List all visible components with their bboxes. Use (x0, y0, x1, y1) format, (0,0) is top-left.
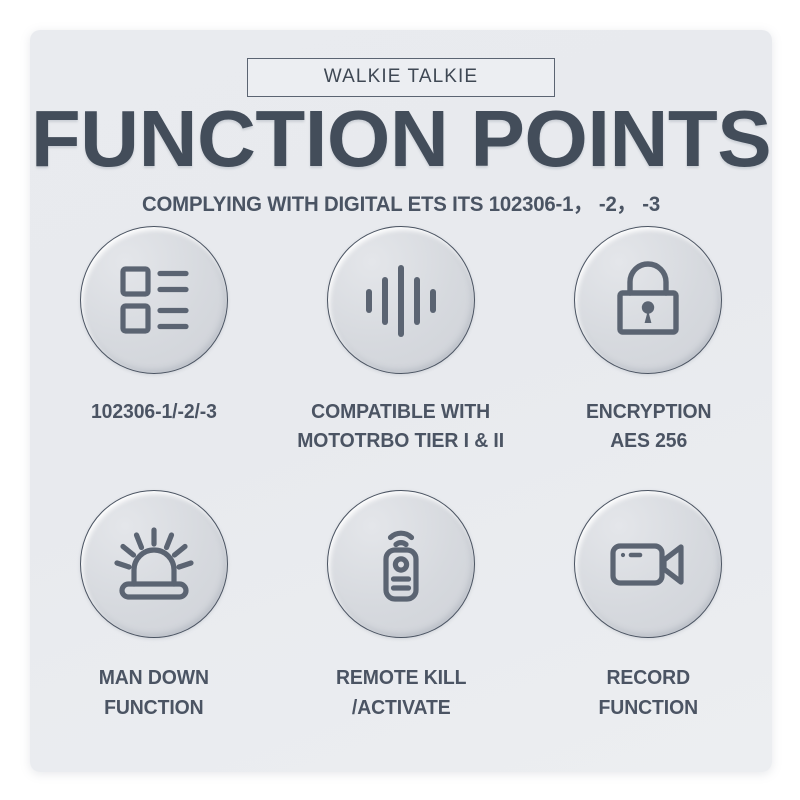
feature-label: ENCRYPTION AES 256 (586, 398, 712, 456)
siren-beacon-icon (112, 522, 196, 606)
page-title: FUNCTION POINTS (30, 99, 772, 179)
feature-grid: 102306-1/-2/-3 COMPATIBLE WITH MOTOTRBO … (30, 226, 772, 723)
eyebrow-badge: WALKIE TALKIE (247, 58, 555, 97)
eyebrow-label: WALKIE TALKIE (324, 66, 478, 87)
icon-circle (574, 490, 722, 638)
feature-label: REMOTE KILL /ACTIVATE (336, 664, 466, 722)
poster-card: WALKIE TALKIE FUNCTION POINTS COMPLYING … (30, 30, 772, 772)
page-subtitle: COMPLYING WITH DIGITAL ETS ITS 102306-1，… (41, 188, 761, 218)
feature-item-remote-kill: REMOTE KILL /ACTIVATE (277, 490, 524, 722)
feature-item-compatibility: COMPATIBLE WITH MOTOTRBO TIER I & II (277, 226, 524, 456)
feature-label: 102306-1/-2/-3 (91, 398, 217, 427)
feature-label: COMPATIBLE WITH MOTOTRBO TIER I & II (298, 398, 505, 456)
icon-circle (80, 226, 228, 374)
feature-label: MAN DOWN FUNCTION (99, 664, 209, 722)
icon-circle (80, 490, 228, 638)
feature-label: RECORD FUNCTION (599, 664, 698, 722)
audio-waveform-icon (359, 258, 443, 342)
list-grid-icon (112, 258, 196, 342)
icon-circle (574, 226, 722, 374)
icon-circle (327, 490, 475, 638)
feature-item-record: RECORD FUNCTION (525, 490, 772, 722)
feature-item-encryption: ENCRYPTION AES 256 (525, 226, 772, 456)
eyebrow-wrap: WALKIE TALKIE (30, 58, 772, 97)
icon-circle (327, 226, 475, 374)
video-camera-icon (606, 522, 690, 606)
padlock-icon (606, 258, 690, 342)
remote-control-icon (359, 522, 443, 606)
feature-item-standards: 102306-1/-2/-3 (30, 226, 277, 456)
feature-item-man-down: MAN DOWN FUNCTION (30, 490, 277, 722)
